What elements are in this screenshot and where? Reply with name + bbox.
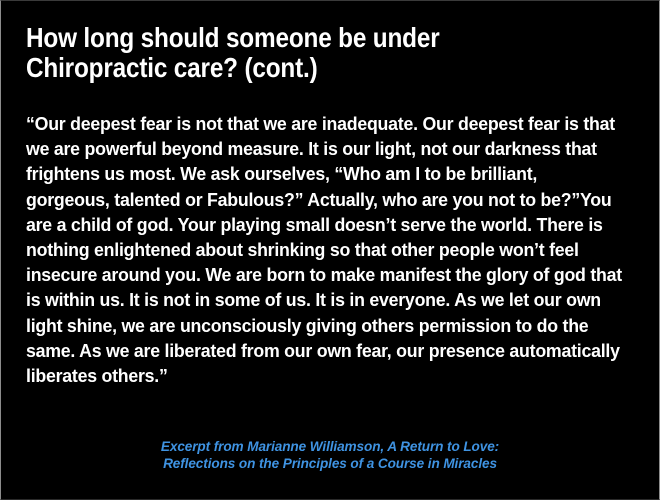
quote-body-text: “Our deepest fear is not that we are ina… xyxy=(26,111,624,388)
quote-container: “Our deepest fear is not that we are ina… xyxy=(26,111,646,388)
page-title: How long should someone be under Chiropr… xyxy=(26,23,573,82)
attribution-line-2: Reflections on the Principles of a Cours… xyxy=(1,455,659,472)
attribution-line-1: Excerpt from Marianne Williamson, A Retu… xyxy=(1,438,659,455)
attribution-container: Excerpt from Marianne Williamson, A Retu… xyxy=(1,438,659,472)
slide-title-container: How long should someone be under Chiropr… xyxy=(26,23,644,82)
presentation-slide: How long should someone be under Chiropr… xyxy=(0,0,660,500)
